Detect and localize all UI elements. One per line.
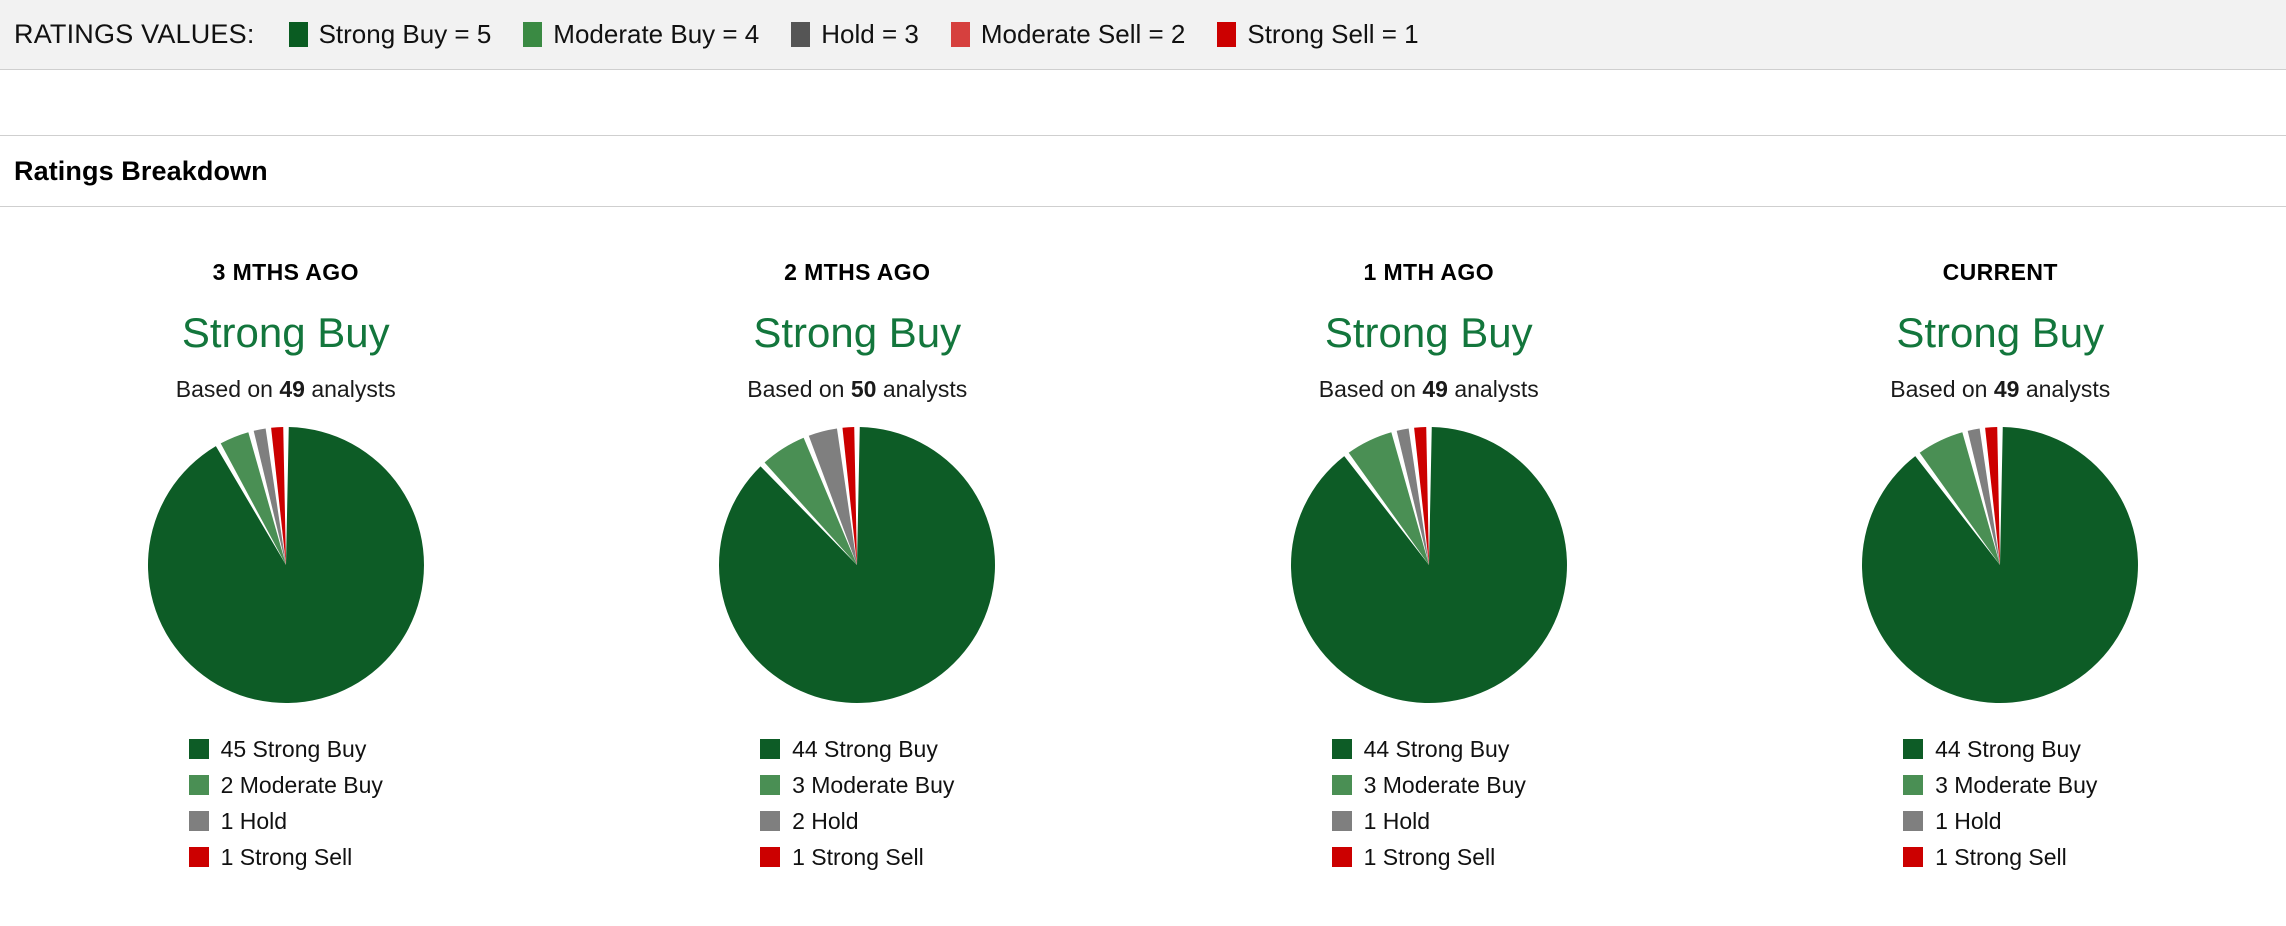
ratings-value-label: Moderate Buy = 4 <box>553 19 759 50</box>
ratings-column-current: CURRENTStrong BuyBased on 49 analysts44 … <box>1715 259 2286 875</box>
pie-chart <box>717 425 997 705</box>
ratings-value-label: Moderate Sell = 2 <box>981 19 1186 50</box>
pie-legend-list: 44 Strong Buy3 Moderate Buy1 Hold1 Stron… <box>1903 731 2097 875</box>
column-period-label: 3 MTHS AGO <box>213 259 359 286</box>
legend-item-strong-buy: 44 Strong Buy <box>1903 731 2097 767</box>
ratings-value-moderate-buy: Moderate Buy = 4 <box>523 19 759 50</box>
pie-legend: 44 Strong Buy3 Moderate Buy1 Hold1 Stron… <box>1143 731 1715 875</box>
analyst-count-prefix: Based on <box>1319 376 1423 402</box>
legend-item-strong-buy: 45 Strong Buy <box>189 731 383 767</box>
hold-swatch-icon <box>1903 811 1923 831</box>
legend-item-moderate-buy: 3 Moderate Buy <box>1903 767 2097 803</box>
ratings-value-strong-sell: Strong Sell = 1 <box>1217 19 1418 50</box>
legend-item-label: 2 Moderate Buy <box>221 772 383 799</box>
legend-item-label: 45 Strong Buy <box>221 736 367 763</box>
legend-item-label: 44 Strong Buy <box>792 736 938 763</box>
moderate-sell-swatch-icon <box>951 22 970 47</box>
analyst-count-value: 50 <box>851 376 877 402</box>
pie-chart-container <box>146 425 426 705</box>
analyst-count-suffix: analysts <box>876 376 967 402</box>
hold-swatch-icon <box>760 811 780 831</box>
legend-item-hold: 1 Hold <box>189 803 383 839</box>
strong-sell-swatch-icon <box>189 847 209 867</box>
strong-buy-swatch-icon <box>760 739 780 759</box>
legend-item-moderate-buy: 3 Moderate Buy <box>1332 767 1526 803</box>
ratings-column-2-mths-ago: 2 MTHS AGOStrong BuyBased on 50 analysts… <box>572 259 1144 875</box>
ratings-values-bar: RATINGS VALUES: Strong Buy = 5Moderate B… <box>0 0 2286 70</box>
analyst-count-prefix: Based on <box>176 376 280 402</box>
analyst-count-text: Based on 49 analysts <box>1890 376 2110 403</box>
pie-chart-container <box>1860 425 2140 705</box>
legend-item-label: 3 Moderate Buy <box>1935 772 2097 799</box>
hold-swatch-icon <box>791 22 810 47</box>
page-title: Ratings Breakdown <box>14 156 268 187</box>
legend-item-label: 1 Hold <box>1935 808 2001 835</box>
legend-item-label: 3 Moderate Buy <box>1364 772 1526 799</box>
analyst-count-text: Based on 49 analysts <box>176 376 396 403</box>
legend-item-label: 44 Strong Buy <box>1364 736 1510 763</box>
consensus-rating-label: Strong Buy <box>182 312 390 354</box>
pie-chart <box>146 425 426 705</box>
pie-legend-list: 44 Strong Buy3 Moderate Buy1 Hold1 Stron… <box>1332 731 1526 875</box>
pie-legend-list: 45 Strong Buy2 Moderate Buy1 Hold1 Stron… <box>189 731 383 875</box>
legend-item-hold: 2 Hold <box>760 803 954 839</box>
legend-item-strong-sell: 1 Strong Sell <box>760 839 954 875</box>
legend-item-label: 3 Moderate Buy <box>792 772 954 799</box>
ratings-value-label: Strong Buy = 5 <box>319 19 492 50</box>
analyst-count-suffix: analysts <box>1448 376 1539 402</box>
legend-item-strong-buy: 44 Strong Buy <box>1332 731 1526 767</box>
pie-slice-strong-buy <box>719 427 995 703</box>
hold-swatch-icon <box>189 811 209 831</box>
strong-sell-swatch-icon <box>760 847 780 867</box>
ratings-breakdown-grid: 3 MTHS AGOStrong BuyBased on 49 analysts… <box>0 207 2286 875</box>
legend-item-strong-sell: 1 Strong Sell <box>1332 839 1526 875</box>
legend-item-label: 2 Hold <box>792 808 858 835</box>
legend-item-label: 1 Strong Sell <box>792 844 924 871</box>
column-period-label: CURRENT <box>1943 259 2058 286</box>
ratings-column-3-mths-ago: 3 MTHS AGOStrong BuyBased on 49 analysts… <box>0 259 572 875</box>
strong-sell-swatch-icon <box>1217 22 1236 47</box>
ratings-breakdown-header: Ratings Breakdown <box>0 136 2286 207</box>
hold-swatch-icon <box>1332 811 1352 831</box>
legend-item-label: 1 Strong Sell <box>221 844 353 871</box>
legend-item-label: 1 Hold <box>221 808 287 835</box>
ratings-values-legend: Strong Buy = 5Moderate Buy = 4Hold = 3Mo… <box>289 19 1451 50</box>
analyst-count-prefix: Based on <box>747 376 851 402</box>
legend-item-label: 1 Strong Sell <box>1935 844 2067 871</box>
moderate-buy-swatch-icon <box>1903 775 1923 795</box>
legend-item-hold: 1 Hold <box>1903 803 2097 839</box>
strong-buy-swatch-icon <box>1332 739 1352 759</box>
legend-item-label: 1 Hold <box>1364 808 1430 835</box>
ratings-value-strong-buy: Strong Buy = 5 <box>289 19 492 50</box>
analyst-count-text: Based on 49 analysts <box>1319 376 1539 403</box>
pie-slice-strong-buy <box>1862 427 2138 703</box>
column-period-label: 1 MTH AGO <box>1363 259 1494 286</box>
consensus-rating-label: Strong Buy <box>1325 312 1533 354</box>
moderate-buy-swatch-icon <box>760 775 780 795</box>
legend-item-strong-sell: 1 Strong Sell <box>1903 839 2097 875</box>
spacer-band <box>0 70 2286 136</box>
pie-legend: 44 Strong Buy3 Moderate Buy1 Hold1 Stron… <box>1715 731 2286 875</box>
legend-item-hold: 1 Hold <box>1332 803 1526 839</box>
moderate-buy-swatch-icon <box>189 775 209 795</box>
analyst-count-value: 49 <box>1994 376 2020 402</box>
analyst-count-value: 49 <box>279 376 305 402</box>
consensus-rating-label: Strong Buy <box>753 312 961 354</box>
pie-legend-list: 44 Strong Buy3 Moderate Buy2 Hold1 Stron… <box>760 731 954 875</box>
analyst-count-value: 49 <box>1422 376 1448 402</box>
legend-item-moderate-buy: 2 Moderate Buy <box>189 767 383 803</box>
ratings-value-hold: Hold = 3 <box>791 19 919 50</box>
pie-chart-container <box>717 425 997 705</box>
strong-buy-swatch-icon <box>1903 739 1923 759</box>
legend-item-moderate-buy: 3 Moderate Buy <box>760 767 954 803</box>
analyst-count-suffix: analysts <box>2019 376 2110 402</box>
legend-item-label: 1 Strong Sell <box>1364 844 1496 871</box>
legend-item-label: 44 Strong Buy <box>1935 736 2081 763</box>
analyst-count-suffix: analysts <box>305 376 396 402</box>
ratings-value-label: Hold = 3 <box>821 19 919 50</box>
consensus-rating-label: Strong Buy <box>1896 312 2104 354</box>
pie-slice-strong-buy <box>1291 427 1567 703</box>
strong-sell-swatch-icon <box>1332 847 1352 867</box>
legend-item-strong-sell: 1 Strong Sell <box>189 839 383 875</box>
strong-buy-swatch-icon <box>189 739 209 759</box>
pie-chart <box>1860 425 2140 705</box>
ratings-column-1-mth-ago: 1 MTH AGOStrong BuyBased on 49 analysts4… <box>1143 259 1715 875</box>
pie-legend: 44 Strong Buy3 Moderate Buy2 Hold1 Stron… <box>572 731 1144 875</box>
pie-chart <box>1289 425 1569 705</box>
analyst-count-prefix: Based on <box>1890 376 1994 402</box>
strong-sell-swatch-icon <box>1903 847 1923 867</box>
column-period-label: 2 MTHS AGO <box>784 259 930 286</box>
ratings-value-moderate-sell: Moderate Sell = 2 <box>951 19 1186 50</box>
legend-item-strong-buy: 44 Strong Buy <box>760 731 954 767</box>
pie-legend: 45 Strong Buy2 Moderate Buy1 Hold1 Stron… <box>0 731 572 875</box>
analyst-count-text: Based on 50 analysts <box>747 376 967 403</box>
ratings-value-label: Strong Sell = 1 <box>1247 19 1418 50</box>
moderate-buy-swatch-icon <box>1332 775 1352 795</box>
pie-chart-container <box>1289 425 1569 705</box>
ratings-values-title: RATINGS VALUES: <box>14 19 255 50</box>
moderate-buy-swatch-icon <box>523 22 542 47</box>
strong-buy-swatch-icon <box>289 22 308 47</box>
pie-slice-strong-buy <box>148 427 424 703</box>
